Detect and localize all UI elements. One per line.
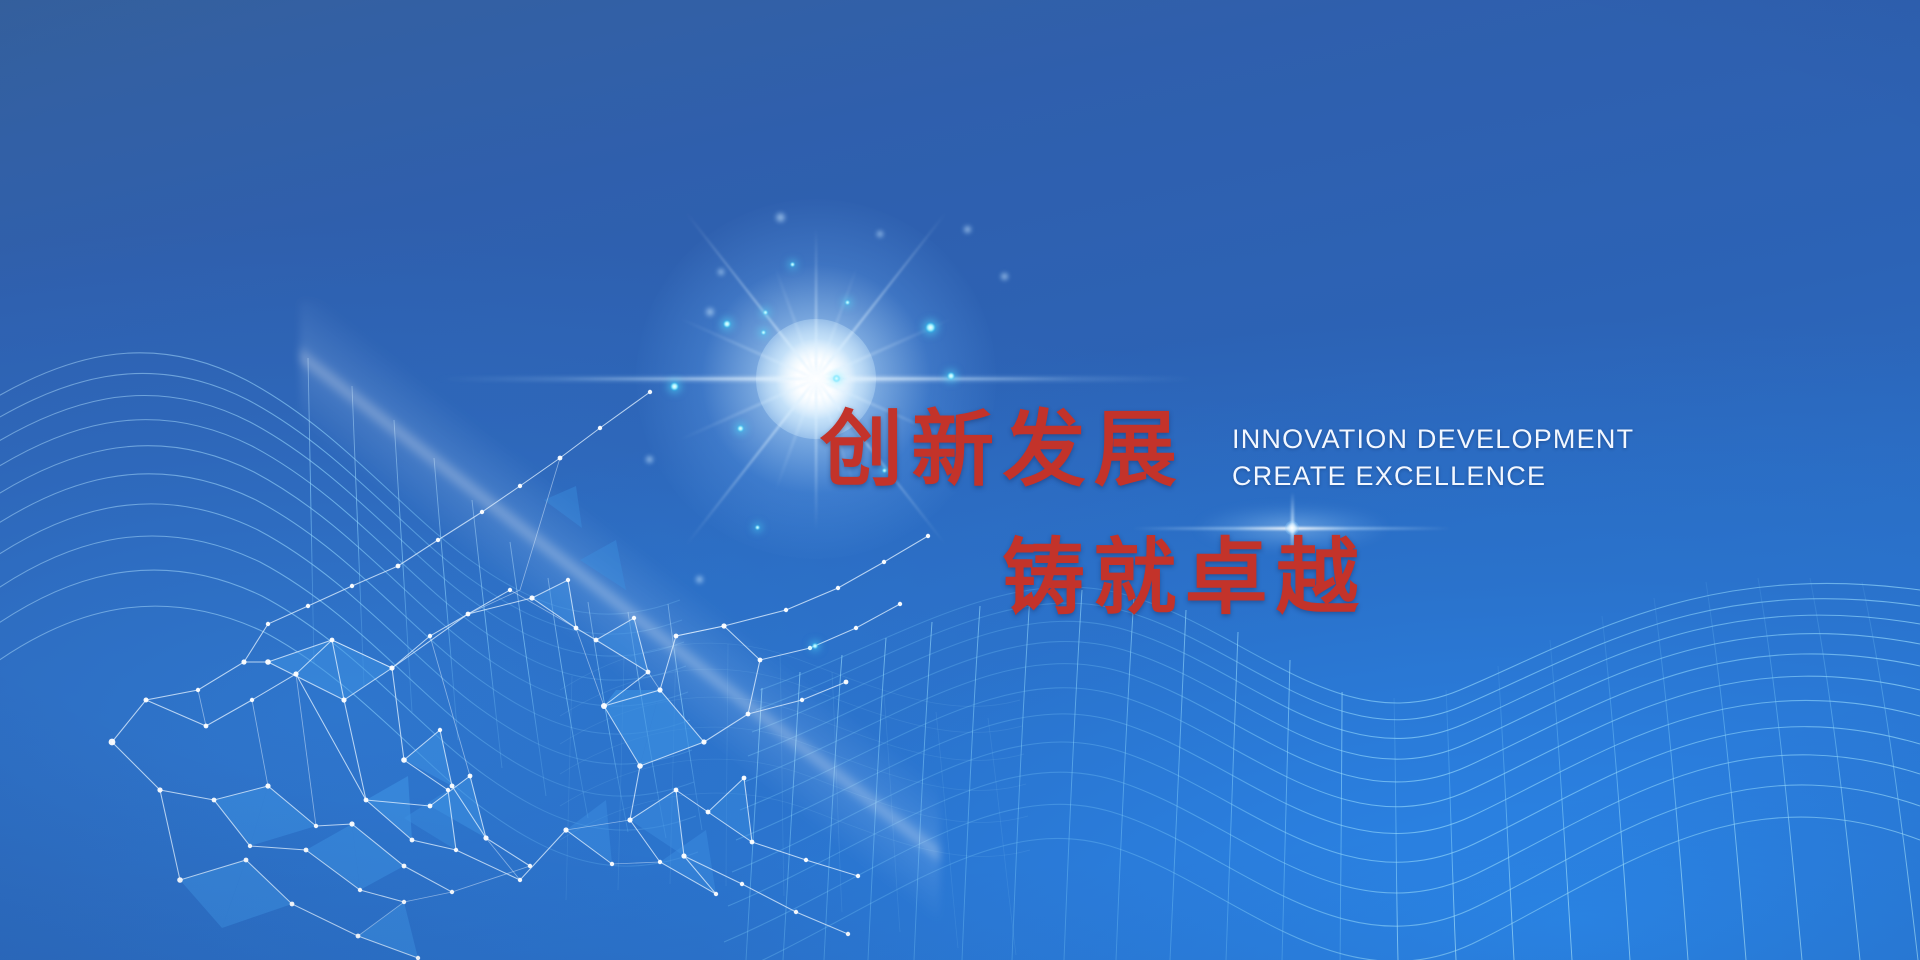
background-gradient (0, 0, 1920, 960)
banner-canvas: 创新发展 铸就卓越 INNOVATION DEVELOPMENT CREATE … (0, 0, 1920, 960)
